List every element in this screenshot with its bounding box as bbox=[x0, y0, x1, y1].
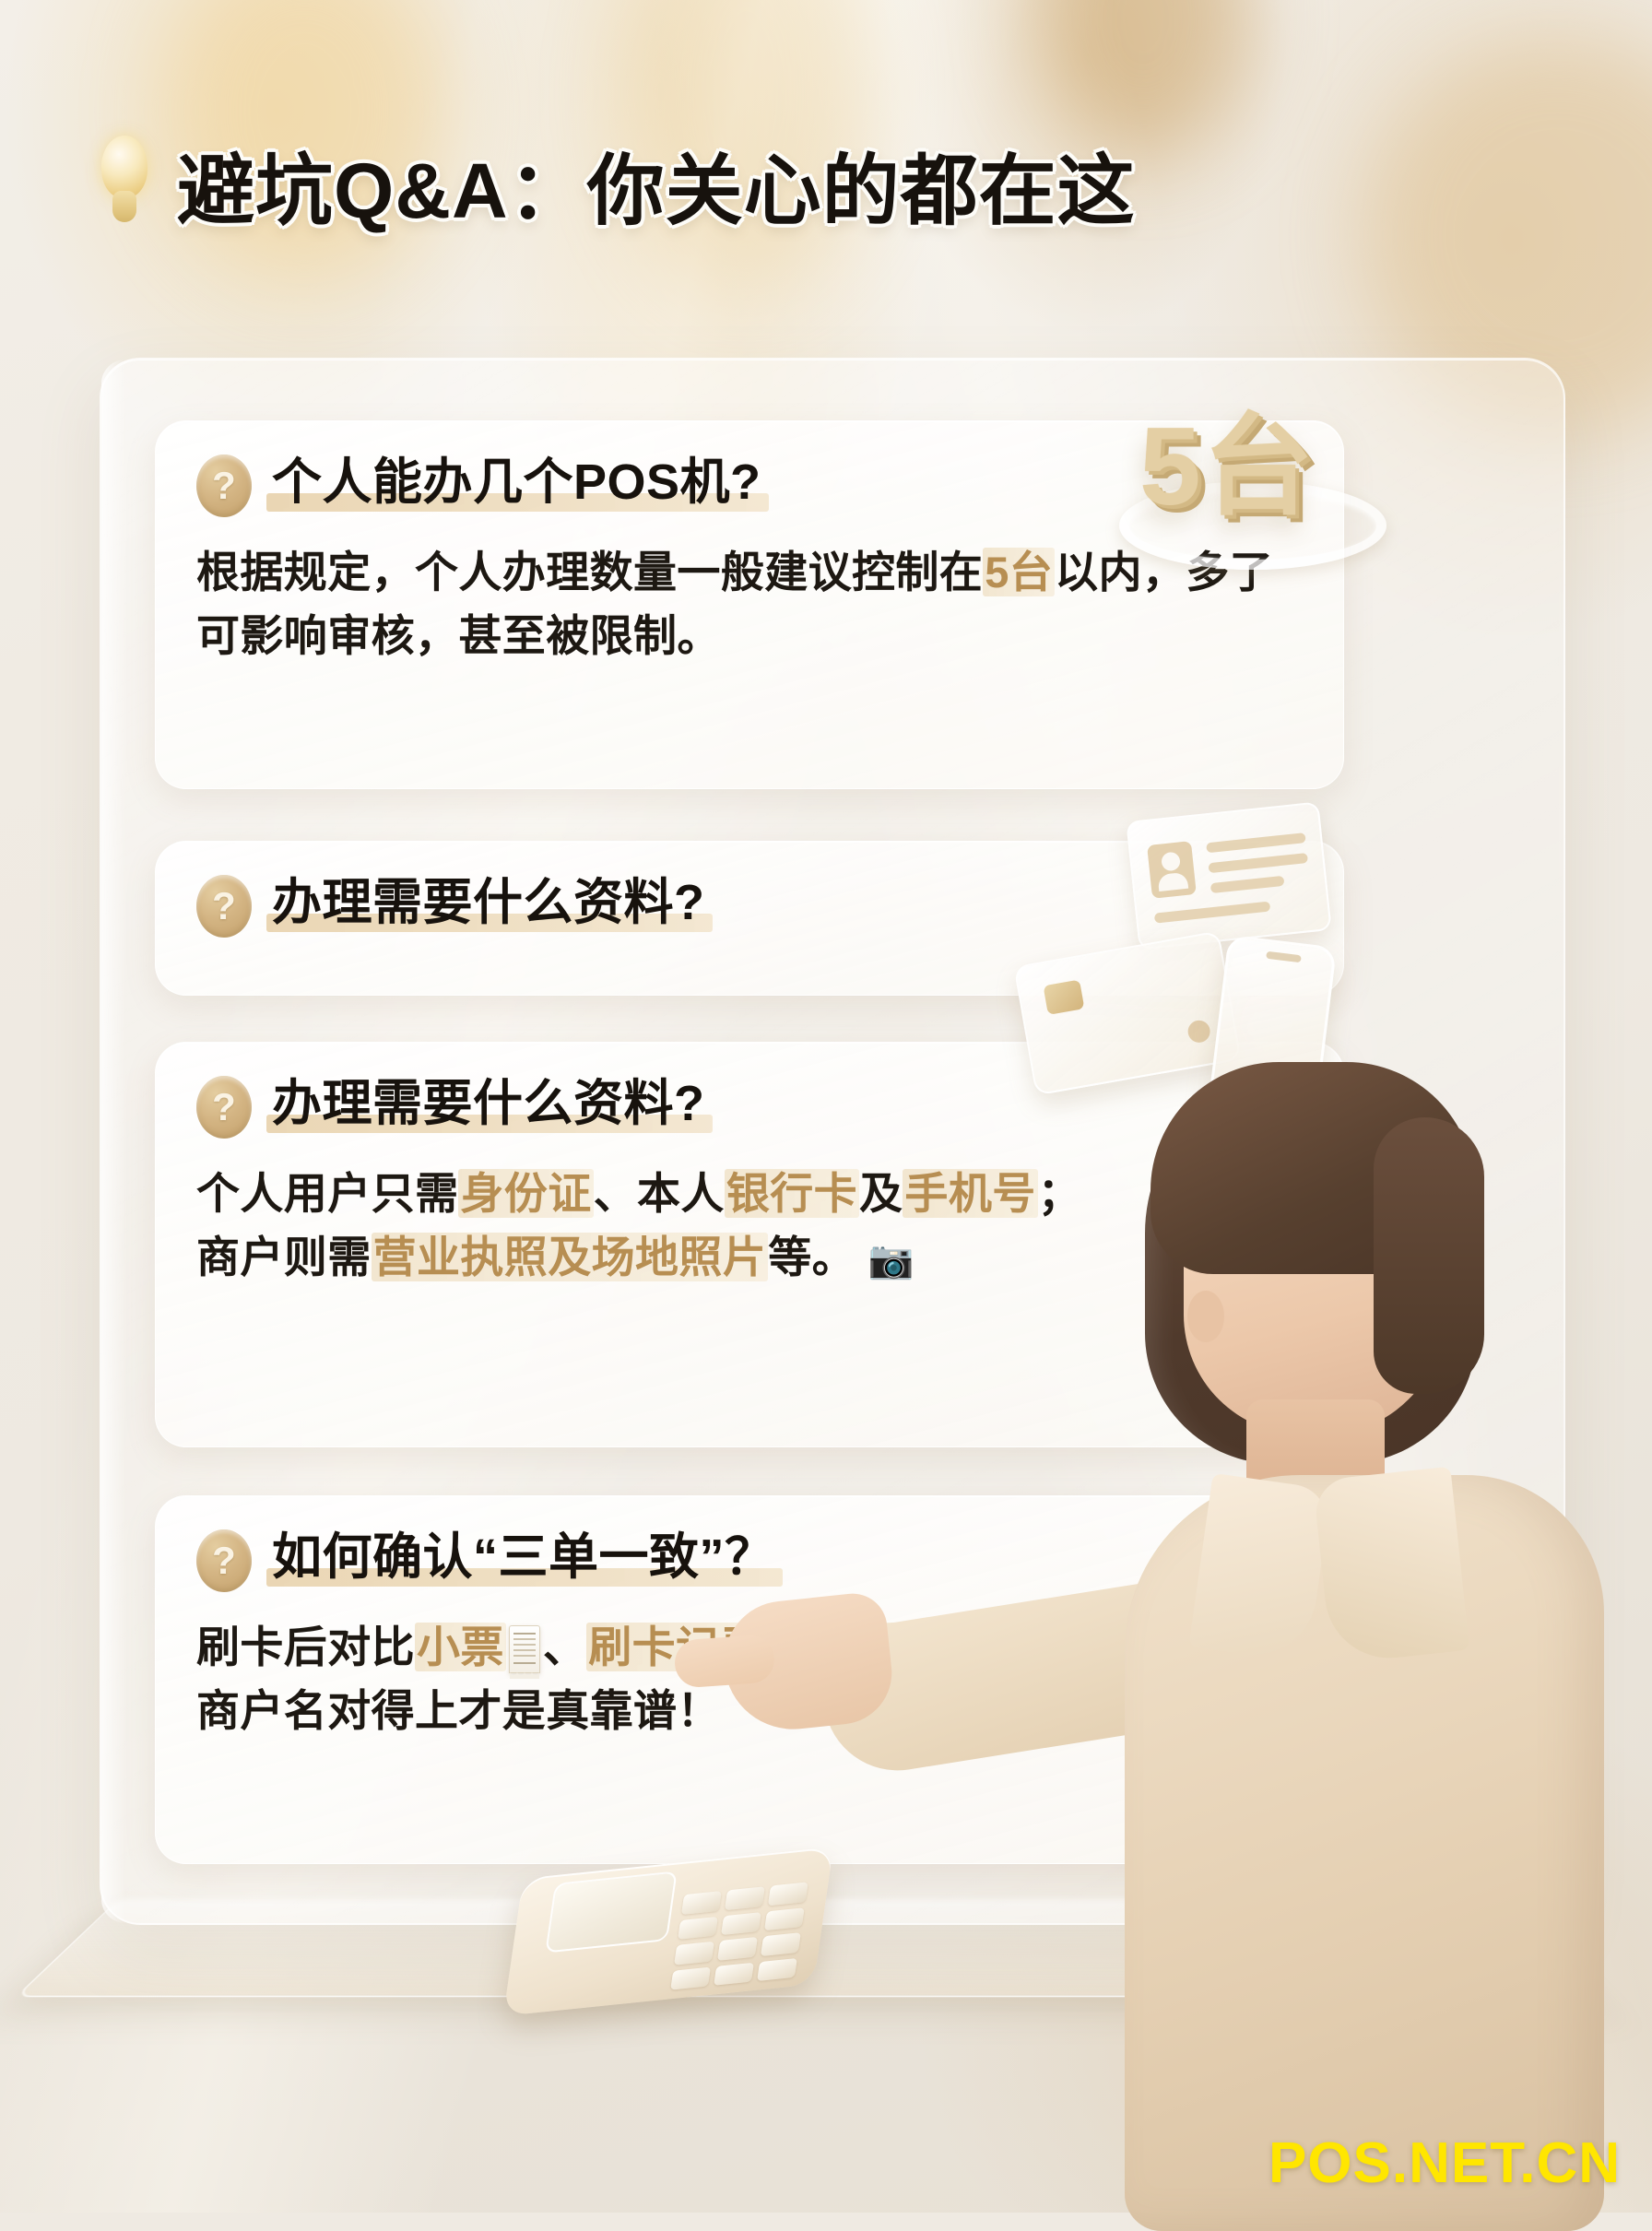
qa-card-4[interactable]: ? 如何确认“三单一致”？ 刷卡后对比小票、刷卡记录和银行流水， 商户名对得上才… bbox=[155, 1495, 1344, 1864]
answer-segment: 等。 bbox=[768, 1233, 855, 1281]
question-text: 个人能办几个POS机? bbox=[272, 453, 761, 513]
answer-highlight: 手机号 bbox=[903, 1169, 1037, 1218]
answer-segment: 和 bbox=[765, 1623, 808, 1671]
answer-highlight: 银行流水 bbox=[808, 1623, 987, 1671]
question-row: ? 如何确认“三单一致”？ bbox=[196, 1528, 1303, 1592]
question-row: ? 办理需要什么资料? bbox=[196, 873, 1303, 938]
lightbulb-icon bbox=[92, 134, 157, 237]
answer-highlight: 小票 bbox=[415, 1623, 506, 1671]
qa-card-2[interactable]: ? 办理需要什么资料? bbox=[155, 841, 1344, 996]
answer-segment: 、本人 bbox=[594, 1169, 725, 1218]
camera-icon: 📷 bbox=[868, 1240, 914, 1281]
answer-highlight: 刷卡记录 bbox=[586, 1623, 765, 1671]
question-mark-icon: ? bbox=[196, 1529, 252, 1592]
question-mark-icon: ? bbox=[196, 875, 252, 938]
answer-highlight: 身份证 bbox=[458, 1169, 593, 1218]
answer-segment: 根据规定，个人办理数量一般建议控制在 bbox=[196, 548, 983, 596]
answer-highlight: 5台 bbox=[983, 548, 1055, 596]
answer-segment: 商户则需 bbox=[196, 1233, 372, 1281]
answer-segment: 刷卡后对比 bbox=[196, 1623, 415, 1671]
answer-text: 根据规定，个人办理数量一般建议控制在5台以内，多了可影响审核，甚至被限制。 bbox=[196, 541, 1303, 667]
answer-segment: 、 bbox=[543, 1623, 586, 1671]
question-row: ? 个人能办几个POS机? bbox=[196, 453, 1303, 517]
receipt-icon bbox=[509, 1625, 540, 1673]
question-text: 办理需要什么资料? bbox=[272, 873, 705, 934]
page-title: 避坑Q&A：你关心的都在这 bbox=[177, 129, 1136, 241]
answer-highlight: 营业执照及场地照片 bbox=[372, 1233, 769, 1281]
answer-segment: ， bbox=[987, 1623, 1031, 1671]
answer-text: 刷卡后对比小票、刷卡记录和银行流水， 商户名对得上才是真靠谱！ bbox=[196, 1616, 1303, 1742]
answer-highlight: 银行卡 bbox=[725, 1169, 859, 1218]
question-row: ? 办理需要什么资料? bbox=[196, 1074, 1303, 1139]
qa-card-3[interactable]: ? 办理需要什么资料? 个人用户只需身份证、本人银行卡及手机号； 商户则需营业执… bbox=[155, 1042, 1344, 1447]
page-header: 避坑Q&A：你关心的都在这 bbox=[92, 129, 1136, 241]
answer-text: 个人用户只需身份证、本人银行卡及手机号； 商户则需营业执照及场地照片等。 📷 bbox=[196, 1163, 1303, 1289]
question-text: 办理需要什么资料? bbox=[272, 1074, 705, 1135]
answer-segment: 及 bbox=[859, 1169, 903, 1218]
answer-segment: ； bbox=[1038, 1169, 1081, 1218]
question-mark-icon: ? bbox=[196, 1076, 252, 1139]
answer-segment: 个人用户只需 bbox=[196, 1169, 458, 1218]
question-mark-icon: ? bbox=[196, 454, 252, 517]
answer-segment: 商户名对得上才是真靠谱！ bbox=[196, 1686, 721, 1735]
site-watermark: POS.NET.CN bbox=[1268, 2131, 1621, 2196]
qa-card-1[interactable]: ? 个人能办几个POS机? 根据规定，个人办理数量一般建议控制在5台以内，多了可… bbox=[155, 420, 1344, 789]
question-text: 如何确认“三单一致”？ bbox=[272, 1528, 775, 1588]
